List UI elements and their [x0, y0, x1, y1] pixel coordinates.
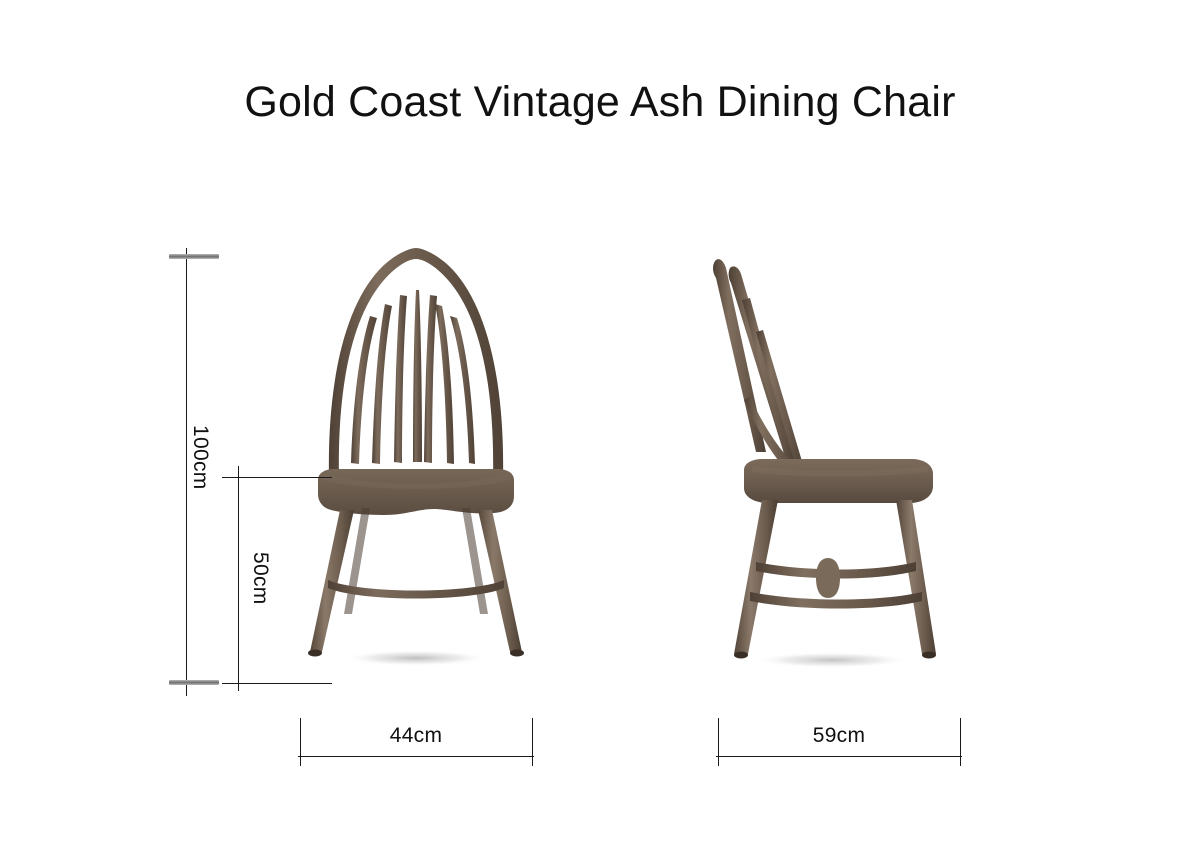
dimension-line-width [298, 756, 534, 757]
side-stretcher-lower [750, 592, 922, 609]
foot-right [510, 650, 524, 657]
foot-left [308, 650, 322, 657]
leg-front-right [478, 510, 522, 652]
dimension-label-depth: 59cm [716, 724, 962, 748]
seat [318, 469, 514, 515]
foot-front [922, 652, 936, 659]
leg-rear [734, 500, 778, 654]
dimension-tick-bottom-seat-height [222, 683, 332, 684]
seat [744, 459, 933, 503]
floor-shadow [344, 650, 488, 666]
chair-front-view [288, 228, 544, 698]
product-dimension-diagram: Gold Coast Vintage Ash Dining Chair [0, 0, 1200, 855]
dimension-label-seat-height: 50cm [248, 552, 272, 605]
page-title: Gold Coast Vintage Ash Dining Chair [0, 78, 1200, 127]
stretcher-center-post [816, 558, 840, 598]
back-spindles [351, 290, 475, 464]
dimension-tick-bottom-total-height [169, 680, 219, 685]
dimension-line-seat-height [238, 466, 239, 691]
dimension-line-total-height [186, 248, 187, 696]
chair-side-view [700, 228, 970, 698]
floor-shadow [754, 652, 910, 668]
leg-front-left [310, 510, 354, 652]
foot-rear [734, 652, 748, 659]
leg-front [896, 500, 936, 654]
dimension-tick-top-seat-height [222, 477, 332, 478]
dimension-line-depth [716, 756, 962, 757]
dimension-label-width: 44cm [298, 724, 534, 748]
dimension-label-total-height: 100cm [188, 425, 212, 490]
dimension-tick-top-total-height [169, 254, 219, 259]
